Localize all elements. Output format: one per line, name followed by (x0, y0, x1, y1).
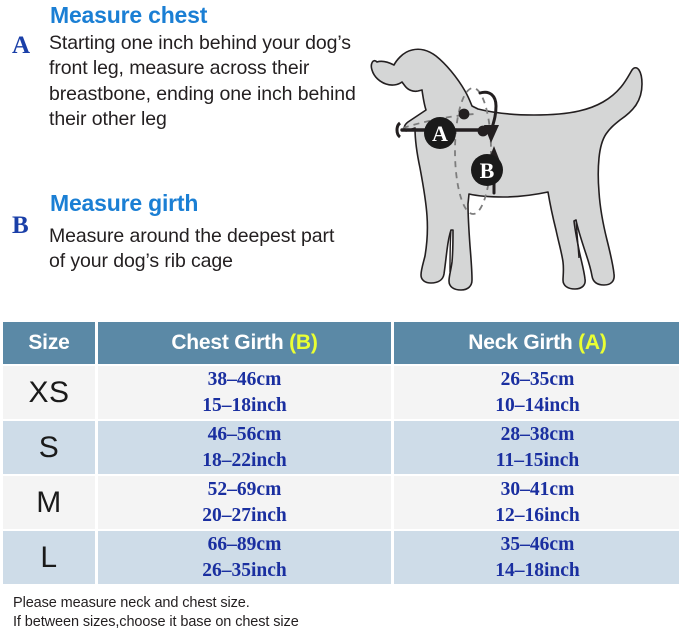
cell-size: S (3, 421, 95, 474)
measure-chest-text: Starting one inch behind your dog’s fron… (49, 31, 371, 132)
diagram-badge-b: B (471, 154, 503, 186)
cell-size: M (3, 476, 95, 529)
table-header-row: Size Chest Girth (B) Neck Girth (A) (3, 322, 679, 364)
header-neck-girth-tag: (A) (578, 331, 607, 354)
cell-size: L (3, 531, 95, 584)
cell-neck-cm: 35–46cm (394, 532, 679, 557)
table-row: XS 38–46cm 15–18inch 26–35cm 10–14inch (3, 366, 679, 419)
cell-neck-girth: 35–46cm 14–18inch (394, 531, 679, 584)
header-chest-girth-text: Chest Girth (171, 331, 289, 354)
cell-chest-inch: 26–35inch (98, 558, 391, 583)
cell-chest-girth: 46–56cm 18–22inch (98, 421, 391, 474)
cell-chest-inch: 20–27inch (98, 503, 391, 528)
cell-chest-cm: 46–56cm (98, 422, 391, 447)
cell-chest-cm: 66–89cm (98, 532, 391, 557)
cell-chest-girth: 52–69cm 20–27inch (98, 476, 391, 529)
cell-chest-cm: 38–46cm (98, 367, 391, 392)
footer-note-line-2: If between sizes,choose it base on chest… (13, 613, 299, 632)
instructions-panel: Measure chest A Starting one inch behind… (0, 0, 370, 318)
header-chest-girth-tag: (B) (289, 331, 318, 354)
cell-neck-inch: 10–14inch (394, 393, 679, 418)
chest-line-endcap (397, 123, 400, 137)
instruction-marker-a: A (12, 33, 30, 58)
instruction-marker-b: B (12, 213, 29, 238)
cell-neck-inch: 14–18inch (394, 558, 679, 583)
cell-chest-girth: 38–46cm 15–18inch (98, 366, 391, 419)
cell-neck-cm: 28–38cm (394, 422, 679, 447)
cell-neck-cm: 26–35cm (394, 367, 679, 392)
table-row: M 52–69cm 20–27inch 30–41cm 12–16inch (3, 476, 679, 529)
cell-neck-girth: 28–38cm 11–15inch (394, 421, 679, 474)
header-chest-girth: Chest Girth (B) (98, 322, 391, 364)
cell-neck-inch: 11–15inch (394, 448, 679, 473)
measure-girth-heading: Measure girth (50, 190, 198, 217)
measure-girth-text: Measure around the deepest part of your … (49, 224, 339, 275)
footer-note-line-1: Please measure neck and chest size. (13, 594, 299, 613)
header-size: Size (3, 322, 95, 364)
cell-chest-inch: 15–18inch (98, 393, 391, 418)
dog-silhouette (371, 49, 642, 290)
dog-body-shape (371, 49, 642, 290)
cell-neck-girth: 30–41cm 12–16inch (394, 476, 679, 529)
table-row: S 46–56cm 18–22inch 28–38cm 11–15inch (3, 421, 679, 474)
diagram-badge-a-label: A (432, 121, 448, 146)
cell-chest-cm: 52–69cm (98, 477, 391, 502)
header-neck-girth: Neck Girth (A) (394, 322, 679, 364)
cell-neck-inch: 12–16inch (394, 503, 679, 528)
size-chart-table: Size Chest Girth (B) Neck Girth (A) XS 3… (0, 320, 679, 586)
header-neck-girth-text: Neck Girth (468, 331, 578, 354)
footer-note: Please measure neck and chest size. If b… (13, 594, 299, 633)
cell-neck-girth: 26–35cm 10–14inch (394, 366, 679, 419)
chest-point-upper (459, 109, 470, 120)
diagram-badge-a: A (424, 117, 456, 149)
table-row: L 66–89cm 26–35inch 35–46cm 14–18inch (3, 531, 679, 584)
cell-neck-cm: 30–41cm (394, 477, 679, 502)
diagram-badge-b-label: B (480, 158, 495, 183)
cell-size: XS (3, 366, 95, 419)
cell-chest-girth: 66–89cm 26–35inch (98, 531, 391, 584)
cell-chest-inch: 18–22inch (98, 448, 391, 473)
dog-measurement-diagram: A B (370, 18, 679, 318)
measure-chest-heading: Measure chest (50, 2, 207, 29)
